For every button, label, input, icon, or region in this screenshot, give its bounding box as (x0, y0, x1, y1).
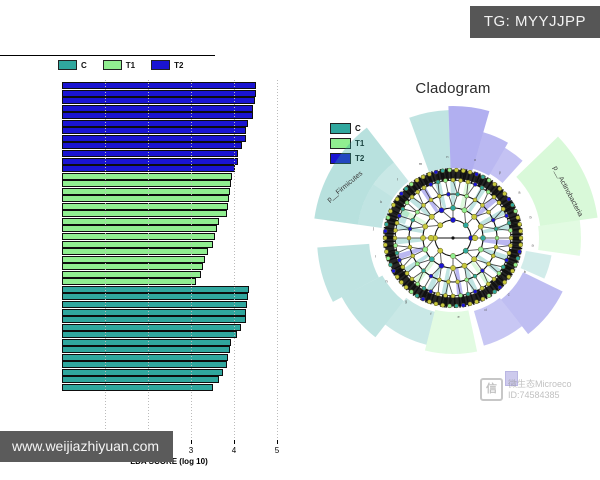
cladogram-node (494, 245, 498, 249)
lda-bar (62, 361, 227, 368)
lda-bar (62, 142, 242, 149)
cladogram-node (519, 243, 523, 247)
lda-bar (62, 225, 217, 232)
cladogram-node (495, 236, 499, 240)
cladogram-node (451, 178, 455, 182)
cladogram-node (501, 265, 505, 269)
x-axis-line (0, 55, 215, 56)
lda-bar (62, 112, 253, 119)
cladogram-node (450, 265, 455, 270)
cladogram-taxon-marker: i (375, 253, 376, 258)
cladogram-node (415, 210, 419, 214)
cladogram-node (472, 257, 477, 262)
cladogram-wedge (516, 137, 597, 226)
cladogram-node (416, 190, 420, 194)
cladogram-node (429, 182, 433, 186)
cladogram-node (404, 285, 408, 289)
cladogram-node (411, 218, 415, 222)
cladogram-node (429, 257, 434, 262)
cladogram-node (429, 214, 434, 219)
cladogram-node (480, 235, 485, 240)
cladogram-node (395, 197, 399, 201)
cladogram-node (507, 275, 511, 279)
legend-swatch-t2 (151, 60, 170, 70)
lda-bar (62, 301, 247, 308)
cladogram-node (395, 275, 399, 279)
lda-bar (62, 105, 253, 112)
cladogram-node (448, 304, 452, 308)
legend-label-c: C (81, 61, 87, 70)
cladogram-node (509, 244, 513, 248)
cladogram-node (389, 209, 393, 213)
cladogram-node (450, 205, 455, 210)
cladogram-node (428, 235, 434, 241)
cladogram-node (429, 274, 433, 278)
cladogram-node (505, 214, 509, 218)
cladogram-node (405, 201, 409, 205)
cladogram-node (486, 282, 490, 286)
cladogram-node (505, 258, 509, 262)
cladogram-node (475, 300, 479, 304)
cladogram-graphic: p__Firmicutesp__Actinobacteriaabcdefghij… (305, 90, 600, 410)
cladogram-node (399, 192, 403, 196)
cladogram-node (422, 269, 426, 273)
cladogram-node (473, 290, 477, 294)
cladogram-node (383, 229, 387, 233)
cladogram-node (411, 254, 415, 258)
lda-bar (62, 324, 241, 331)
cladogram-node (513, 263, 517, 267)
cladogram-node (487, 262, 491, 266)
cladogram-node (507, 221, 511, 225)
cladogram-node (481, 297, 485, 301)
cladogram-node (392, 203, 396, 207)
lda-bar (62, 82, 256, 89)
lda-bar (62, 339, 231, 346)
cladogram-taxon-marker: k (380, 199, 382, 204)
cladogram-node (473, 274, 477, 278)
cladogram-node (439, 208, 444, 213)
cladogram-node (487, 210, 491, 214)
cladogram-node (462, 208, 467, 213)
cladogram-node (503, 280, 507, 284)
cladogram-node (498, 285, 502, 289)
cladogram-node (422, 186, 426, 190)
x-axis-tick-label: 5 (275, 446, 279, 455)
cladogram-node (468, 302, 472, 306)
cladogram-node (384, 222, 388, 226)
legend-swatch-c (58, 60, 77, 70)
cladogram-node (448, 168, 452, 172)
cladogram-taxon-marker: a (531, 242, 534, 247)
cladogram-node (507, 251, 511, 255)
cladogram-node (407, 236, 411, 240)
cladogram-node (393, 244, 397, 248)
cladogram-taxon-marker: j (372, 226, 374, 231)
lda-bar (62, 195, 229, 202)
lda-bar (62, 346, 230, 353)
cladogram-node (463, 223, 468, 228)
cladogram-node (463, 248, 468, 253)
cladogram-node (434, 302, 438, 306)
cladogram-taxon-marker: h (386, 279, 388, 284)
cladogram-wedge (409, 110, 450, 172)
cladogram-node (516, 216, 520, 220)
cladogram-node (410, 195, 414, 199)
lda-bar (62, 309, 246, 316)
lda-bar (62, 376, 219, 383)
cladogram-node (473, 198, 477, 202)
cladogram-node (401, 207, 405, 211)
x-axis-tick-label: 3 (189, 446, 193, 455)
cladogram-node (421, 297, 425, 301)
legend-swatch-t1 (103, 60, 122, 70)
cladogram-node (491, 254, 495, 258)
cladogram-node (492, 277, 496, 281)
cladogram-node (437, 194, 441, 198)
cladogram-node (446, 192, 450, 196)
cladogram-node (397, 258, 401, 262)
cladogram-node (383, 243, 387, 247)
cladogram-node (494, 227, 498, 231)
cladogram-node (395, 221, 399, 225)
lda-bar (62, 354, 228, 361)
cladogram-node (480, 203, 484, 207)
cladogram-node (416, 282, 420, 286)
lda-bar (62, 188, 230, 195)
cladogram-node (401, 265, 405, 269)
cladogram-node (475, 172, 479, 176)
cladogram-node (441, 303, 445, 307)
cladogram-taxon-marker: n (446, 154, 448, 159)
cladogram-node (480, 269, 484, 273)
site-url-watermark: www.weijiazhiyuan.com (0, 431, 173, 462)
cladogram-wedge (538, 220, 581, 256)
gridline (277, 80, 278, 440)
lda-bar (62, 90, 256, 97)
cladogram-node (472, 214, 477, 219)
cladogram-node (478, 224, 483, 229)
cladogram-node (486, 190, 490, 194)
lda-bar (62, 210, 227, 217)
cladogram-node (427, 172, 431, 176)
cladogram-node (519, 236, 523, 240)
cladogram-node (383, 236, 387, 240)
gridline (148, 80, 149, 440)
cladogram-node (507, 197, 511, 201)
cladogram-node (466, 292, 470, 296)
cladogram-node (473, 182, 477, 186)
cladogram-node (465, 194, 469, 198)
cladogram-node (497, 271, 501, 275)
cladogram-taxon-marker: c (508, 292, 510, 297)
cladogram-node (487, 178, 491, 182)
cladogram-node (415, 294, 419, 298)
cladogram-node (436, 180, 440, 184)
cladogram-node (409, 290, 413, 294)
cladogram-node (408, 227, 412, 231)
cladogram-node (422, 286, 426, 290)
lda-bar (62, 248, 208, 255)
lda-bar (62, 263, 203, 270)
cladogram-node (456, 192, 460, 196)
lda-bar (62, 135, 246, 142)
x-axis-tick (277, 440, 278, 444)
cladogram-node (468, 170, 472, 174)
cladogram-node (491, 218, 495, 222)
lda-bar (62, 293, 248, 300)
cladogram-node (518, 222, 522, 226)
cladogram-node (423, 224, 428, 229)
tg-watermark-badge: TG: MYYJJPP (470, 6, 600, 38)
lda-bar (62, 316, 246, 323)
cladogram-node (438, 248, 443, 253)
legend-item-t1: T1 (103, 60, 135, 70)
cladogram-node (519, 229, 523, 233)
gridline (234, 80, 235, 440)
cladogram-taxon-marker: g (405, 299, 407, 304)
cladogram-taxon-marker: b (530, 215, 533, 220)
cladogram-node (456, 280, 460, 284)
cladogram-node (461, 169, 465, 173)
cladogram-node (451, 294, 455, 298)
cladogram-node (397, 214, 401, 218)
cladogram-node (462, 263, 467, 268)
cladogram-node (386, 256, 390, 260)
lda-bar (62, 97, 255, 104)
cladogram-node (404, 187, 408, 191)
cladogram-node (393, 228, 397, 232)
cladogram-node (454, 304, 458, 308)
cladogram-node (459, 294, 463, 298)
cladogram-node (427, 300, 431, 304)
lda-bar (62, 278, 196, 285)
cladogram-node (439, 263, 444, 268)
x-axis-tick (191, 440, 192, 444)
cladogram-node (446, 280, 450, 284)
cladogram-root-node (451, 236, 454, 239)
cladogram-node (465, 278, 469, 282)
cladogram-node (509, 228, 513, 232)
cladogram-node (441, 169, 445, 173)
cladogram-node (510, 203, 514, 207)
cladogram-node (405, 271, 409, 275)
cladogram-node (498, 187, 502, 191)
cladogram-node (384, 250, 388, 254)
lda-bar (62, 271, 201, 278)
lda-bar (62, 180, 231, 187)
lda-bar (62, 127, 246, 134)
cladogram-node (415, 262, 419, 266)
cladogram-node (450, 253, 455, 258)
cladogram-node (459, 178, 463, 182)
cladogram-node (503, 192, 507, 196)
cladogram-taxon-marker: a (518, 189, 521, 194)
cladogram-node (497, 201, 501, 205)
legend-label-t1: T1 (126, 61, 135, 70)
lda-bar (62, 286, 249, 293)
cladogram-node (518, 250, 522, 254)
lda-bar (62, 150, 238, 157)
cladogram-node (480, 286, 484, 290)
cladogram-node (461, 303, 465, 307)
cladogram-node (436, 292, 440, 296)
cladogram-node (393, 236, 397, 240)
cladogram-node (437, 278, 441, 282)
cladogram-node (513, 209, 517, 213)
cladogram-node (509, 236, 513, 240)
cladogram-taxon-marker: l (397, 176, 398, 181)
cladogram-node (501, 207, 505, 211)
lda-bar (62, 369, 223, 376)
cladogram-node (429, 290, 433, 294)
cladogram-node (438, 223, 443, 228)
legend-item-c: C (58, 60, 87, 70)
cladogram-node (492, 195, 496, 199)
lda-bar-chart-panel: C T1 T2 g__Alicyclipnilusg__Aureimicrobi… (0, 55, 300, 415)
cladogram-node (421, 175, 425, 179)
cladogram-node (466, 180, 470, 184)
cladogram-node (420, 235, 425, 240)
lda-bar (62, 218, 219, 225)
clip-icon (505, 371, 518, 386)
lda-bar (62, 331, 237, 338)
cladogram-node (481, 175, 485, 179)
cladogram-taxon-marker: m (419, 161, 423, 166)
lda-bar (62, 173, 232, 180)
cladogram-node (480, 186, 484, 190)
lda-bar (62, 256, 205, 263)
cladogram-node (408, 245, 412, 249)
cladogram-node (423, 247, 428, 252)
cladogram-node (389, 263, 393, 267)
cladogram-node (392, 269, 396, 273)
cladogram-node (395, 251, 399, 255)
cladogram-node (450, 217, 455, 222)
cladogram-panel: Cladogram C T1 T2 p__Firmicutesp__Actino… (305, 50, 600, 415)
cladogram-node (493, 182, 497, 186)
cladogram-node (422, 203, 426, 207)
cladogram-node (386, 216, 390, 220)
x-axis-tick (234, 440, 235, 444)
lda-legend: C T1 T2 (58, 60, 183, 70)
cladogram-node (434, 170, 438, 174)
legend-item-t2: T2 (151, 60, 183, 70)
cladogram-node (516, 256, 520, 260)
cladogram-node (409, 182, 413, 186)
x-axis-tick-label: 4 (232, 446, 236, 455)
cladogram-node (472, 235, 478, 241)
cladogram-taxon-marker: d (484, 307, 486, 312)
lda-bar (62, 158, 238, 165)
cladogram-node (399, 280, 403, 284)
cladogram-node (410, 277, 414, 281)
cladogram-node (487, 294, 491, 298)
cladogram-node (429, 198, 433, 202)
legend-label-t2: T2 (174, 61, 183, 70)
cladogram-node (510, 269, 514, 273)
lda-bar (62, 203, 228, 210)
cladogram-node (415, 178, 419, 182)
gridline (191, 80, 192, 440)
cladogram-node (478, 247, 483, 252)
cladogram-node (443, 294, 447, 298)
cladogram-highlight-wedges (314, 106, 597, 354)
cladogram-node (443, 178, 447, 182)
gridline (105, 80, 106, 440)
cladogram-node (454, 168, 458, 172)
cladogram-node (493, 290, 497, 294)
lda-bar (62, 120, 248, 127)
